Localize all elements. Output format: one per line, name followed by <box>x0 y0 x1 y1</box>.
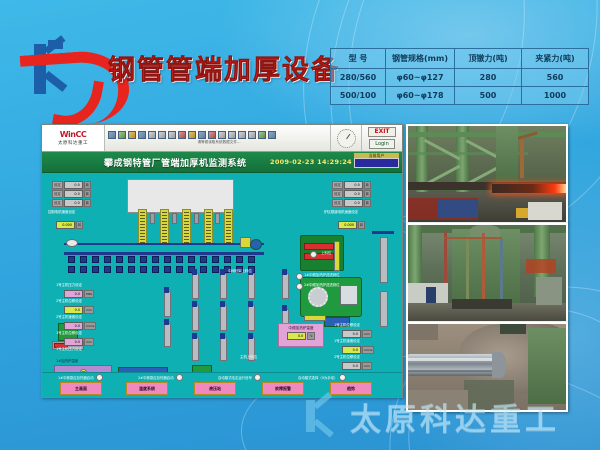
valve-icon <box>66 239 78 247</box>
value-label: 设定 <box>332 190 343 198</box>
heater-temp-value: 0.0 <box>287 332 306 340</box>
param-unit: mm <box>362 362 372 370</box>
value-label: 设定 <box>52 181 63 189</box>
print-icon[interactable] <box>138 131 146 139</box>
param-label: 2号主机位移设定 <box>334 355 360 360</box>
toolbar-icon-row[interactable] <box>108 131 330 139</box>
hmi-footer: 1#中频感应加热器启动 2#中频感应加热器启动 自动模式给定运行信号 自动模式选… <box>42 372 402 398</box>
hanger <box>194 213 199 224</box>
value-number[interactable]: 0.0 <box>64 190 83 198</box>
value-label: 设定 <box>332 181 343 189</box>
hmi-system-title: 攀成钢特管厂管端加厚机监测系统 <box>104 156 247 169</box>
photo-pipe-end-closeup <box>406 322 568 412</box>
value-unit: 转 <box>84 181 91 189</box>
param-label: 1号主机位移设定 <box>56 331 82 336</box>
zoom-icon[interactable] <box>218 131 226 139</box>
hmi-gauge-box <box>330 125 361 151</box>
value-label: 设定 <box>332 199 343 207</box>
exit-cylinder <box>380 291 388 327</box>
paste-icon[interactable] <box>168 131 176 139</box>
status-lamp <box>296 273 303 280</box>
help-icon[interactable] <box>268 131 276 139</box>
save-icon[interactable] <box>128 131 136 139</box>
value-number[interactable]: 0.0 <box>64 199 83 207</box>
wincc-logo: WinCC <box>60 131 87 139</box>
heater-temp-caption: 中频加热炉温度 <box>279 324 323 332</box>
hanger <box>215 213 220 224</box>
hanger <box>150 213 155 224</box>
status-lamp[interactable] <box>254 374 261 381</box>
status-lamp <box>296 283 303 290</box>
stop-icon[interactable] <box>208 131 216 139</box>
value-number[interactable]: 0.0 <box>344 199 363 207</box>
param-unit: mm <box>362 330 372 338</box>
copy-icon[interactable] <box>158 131 166 139</box>
param-value[interactable]: 0.0 <box>64 338 83 346</box>
table-row: 280/560 φ60~φ127 280 560 <box>331 69 589 87</box>
caption-intermediate-load: 中间坯架上料位 <box>228 269 252 274</box>
heating-column <box>182 209 191 245</box>
heating-column <box>138 209 147 245</box>
cell-model: 500/100 <box>331 87 386 105</box>
layer-icon[interactable] <box>238 131 246 139</box>
heating-column <box>224 209 233 245</box>
page-title: 钢管管端加厚设备 <box>108 48 340 87</box>
caption-main-load-position: 主机上料位 <box>240 355 257 360</box>
align-icon[interactable] <box>248 131 256 139</box>
param-value[interactable]: 0.0 <box>64 290 83 298</box>
hmi-process-diagram: 设定 0.0 转 设定 0.0 转 设定 0.0 转 控制电机速度设定 0.00… <box>42 173 402 398</box>
param-unit: mm/s <box>362 346 374 354</box>
hmi-session-buttons: EXIT Login <box>361 125 402 151</box>
value-unit: 转 <box>364 199 371 207</box>
hmi-clock: 2009-02-23 14:29:24 <box>270 158 352 166</box>
open-file-icon[interactable] <box>118 131 126 139</box>
param-label: 1号主机速度设定 <box>334 339 360 344</box>
param-value[interactable]: 0.0 <box>342 346 361 354</box>
status-lamp <box>310 251 317 258</box>
th-model: 型 号 <box>331 49 386 69</box>
wincc-subtitle: 太原科达重工 <box>58 140 88 146</box>
param-value[interactable]: 0.0 <box>64 322 83 330</box>
nav-button-alarm[interactable]: 故障报警 <box>262 382 304 395</box>
hmi-toolbar: WinCC 太原科达重工 <box>42 125 402 152</box>
run-icon[interactable] <box>258 131 266 139</box>
param-label: 1号主机压力设定 <box>56 347 82 352</box>
value-unit: 转 <box>364 190 371 198</box>
hmi-title-bar: 攀成钢特管厂管端加厚机监测系统 2009-02-23 14:29:24 当前用户 <box>42 152 402 173</box>
redo-icon[interactable] <box>198 131 206 139</box>
heater-temp-unit: ℃ <box>307 332 314 340</box>
param-unit: MPa <box>84 290 94 298</box>
speed-readout-unit: 转 <box>358 221 365 229</box>
heating-column <box>160 209 169 245</box>
clamp-jaw <box>304 243 334 250</box>
cell-upset-force: 500 <box>455 87 522 105</box>
value-number[interactable]: 0.0 <box>64 181 83 189</box>
hanger <box>172 213 177 224</box>
right-panel-caption: 炉区辊道电机速度设定 <box>324 210 358 215</box>
kd-logo <box>26 38 114 100</box>
th-upset-force: 顶镦力(吨) <box>455 49 522 69</box>
analog-gauge-icon <box>337 129 356 148</box>
furnace-body <box>127 179 234 213</box>
hydraulic-line <box>334 241 340 271</box>
heater-temp-panel: 中频加热炉温度 0.0 ℃ <box>278 323 324 347</box>
nav-button-temperature[interactable]: 温度系统 <box>126 382 168 395</box>
table-row: 500/100 φ60~φ178 500 1000 <box>331 87 589 105</box>
param-value[interactable]: 0.0 <box>64 306 83 314</box>
current-user-value[interactable] <box>354 158 399 168</box>
cut-icon[interactable] <box>148 131 156 139</box>
gearbox <box>250 239 262 250</box>
value-label: 设定 <box>52 199 63 207</box>
value-label: 设定 <box>52 190 63 198</box>
param-unit: mm/s <box>84 322 96 330</box>
conveyor-rail <box>64 252 264 255</box>
footer-note: 自动模式选择（0为手动） <box>298 375 337 380</box>
login-button[interactable]: Login <box>369 139 395 149</box>
footer-note: 自动模式给定运行信号 <box>218 375 252 380</box>
current-user-field[interactable]: 当前用户 <box>354 153 399 168</box>
undo-icon[interactable] <box>188 131 196 139</box>
speed-readout: 0.000 <box>56 221 75 229</box>
value-number[interactable]: 0.0 <box>344 181 363 189</box>
cell-pipe-spec: φ60~φ127 <box>386 69 455 87</box>
speed-readout-unit: 转 <box>76 221 83 229</box>
photo-workshop-hot-pipe <box>406 124 568 224</box>
caption-heater1-temp: 1#加热炉温度 <box>56 359 78 364</box>
footer-note: 2#中频感应加热器启动 <box>138 375 174 380</box>
wincc-logo-box: WinCC 太原科达重工 <box>42 125 105 151</box>
spec-table: 型 号 钢管规格(mm) 顶镦力(吨) 夹紧力(吨) 280/560 φ60~φ… <box>330 48 589 105</box>
left-panel-caption: 控制电机速度设定 <box>48 210 75 215</box>
value-unit: 转 <box>84 190 91 198</box>
value-number[interactable]: 0.0 <box>344 190 363 198</box>
toolbar-status-note: 请等候读取系统数据文件… <box>108 140 330 145</box>
status-lamp[interactable] <box>96 374 103 381</box>
exit-rail <box>372 231 394 234</box>
th-pipe-spec: 钢管规格(mm) <box>386 49 455 69</box>
param-value[interactable]: 0.0 <box>342 362 361 370</box>
footer-note: 1#中频感应加热器启动 <box>58 375 94 380</box>
cell-model: 280/560 <box>331 69 386 87</box>
caption-heater1-in-position: 1#中频加热炉送进到位 <box>304 273 339 278</box>
heating-column <box>204 209 213 245</box>
delete-icon[interactable] <box>178 131 186 139</box>
new-file-icon[interactable] <box>108 131 116 139</box>
param-unit: mm <box>84 306 94 314</box>
photo-upsetting-machine <box>406 223 568 323</box>
param-label: 2号主机速度设定 <box>56 315 82 320</box>
nav-button-hydraulic[interactable]: 液压站 <box>194 382 236 395</box>
cell-clamp-force: 1000 <box>522 87 589 105</box>
value-unit: 转 <box>364 181 371 189</box>
nav-button-main[interactable]: 主画面 <box>60 382 102 395</box>
value-unit: 转 <box>84 199 91 207</box>
exit-button[interactable]: EXIT <box>368 127 395 137</box>
machine-window <box>340 285 358 305</box>
nav-button-trend[interactable]: 趋势 <box>330 382 372 395</box>
th-clamp-force: 夹紧力(吨) <box>522 49 589 69</box>
param-label: 1号主机位移设定 <box>334 323 360 328</box>
conveyor-rail <box>64 243 264 245</box>
caption-load-position: 上料位 <box>321 251 331 256</box>
cell-pipe-spec: φ60~φ178 <box>386 87 455 105</box>
caption-heater2-in-position: 2#中频加热炉送进到位 <box>304 283 339 288</box>
status-lamp[interactable] <box>339 374 346 381</box>
cell-upset-force: 280 <box>455 69 522 87</box>
status-lamp[interactable] <box>176 374 183 381</box>
hmi-screenshot: WinCC 太原科达重工 <box>41 124 403 398</box>
table-header-row: 型 号 钢管规格(mm) 顶镦力(吨) 夹紧力(吨) <box>331 49 589 69</box>
param-unit: mm <box>84 338 94 346</box>
param-value[interactable]: 0.0 <box>342 330 361 338</box>
grid-icon[interactable] <box>228 131 236 139</box>
param-label: 2号主机位移设定 <box>56 299 82 304</box>
ram-rod <box>304 315 326 321</box>
speed-readout: 0.000 <box>338 221 357 229</box>
machine-dial <box>308 287 328 307</box>
param-label: 1号主机压力设定 <box>56 283 82 288</box>
hmi-toolbar-icons: 请等候读取系统数据文件… <box>105 125 330 151</box>
cell-clamp-force: 560 <box>522 69 589 87</box>
exit-cylinder <box>380 237 388 283</box>
